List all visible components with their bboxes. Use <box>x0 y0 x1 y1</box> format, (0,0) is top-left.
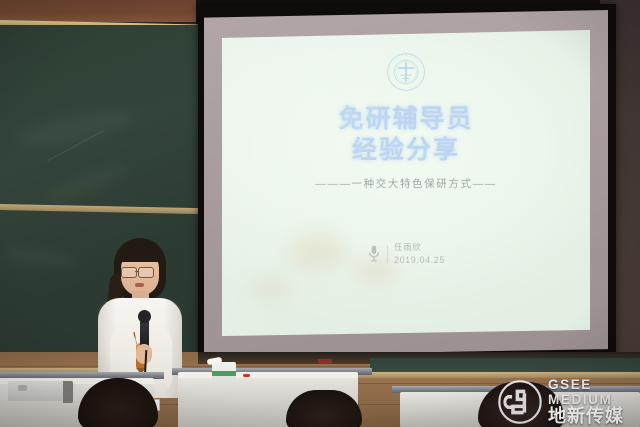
gsee-medium-logo-icon <box>498 380 542 424</box>
slide-title-line1: 免研辅导员 <box>338 105 473 133</box>
presentation-date: 2019.04.25 <box>394 255 445 266</box>
presenter-fringe <box>117 244 163 262</box>
presenter-name: 任雨欣 <box>394 242 445 253</box>
tissue-box-band <box>212 371 236 376</box>
microphone-head <box>138 310 151 323</box>
eyeglasses-right-lens <box>138 267 154 278</box>
classroom-photo: 免研辅导员 经验分享 ———一种交大特色保研方式—— 任雨欣 2019.04.2… <box>0 0 640 427</box>
watermark: GSEE MEDIUM 地新传媒 <box>498 378 638 426</box>
slide-title: 免研辅导员 经验分享 <box>222 104 590 166</box>
projection-hotspot <box>288 232 346 272</box>
projector-lens <box>18 385 27 391</box>
eyeglasses-left-lens <box>121 267 137 278</box>
presenter-mouth <box>135 283 144 287</box>
credit-text: 任雨欣 2019.04.25 <box>394 242 445 266</box>
projection-hotspot <box>251 275 291 301</box>
watermark-text: GSEE MEDIUM 地新传媒 <box>548 377 638 427</box>
red-book <box>318 359 332 364</box>
projector-unit <box>8 381 66 401</box>
chalk-smudge <box>5 245 76 269</box>
watermark-chinese: 地新传媒 <box>548 407 638 427</box>
eyeglasses-bridge <box>135 271 139 272</box>
desk-surface <box>178 372 358 378</box>
red-marker-cap <box>243 374 250 377</box>
slide-subtitle: ———一种交大特色保研方式—— <box>222 176 590 191</box>
projected-slide: 免研辅导员 经验分享 ———一种交大特色保研方式—— 任雨欣 2019.04.2… <box>222 30 590 336</box>
watermark-english: GSEE MEDIUM <box>548 377 638 407</box>
xjtu-university-emblem-icon <box>386 52 426 92</box>
chalk-smudge <box>40 159 130 209</box>
projector-unit-side <box>63 381 73 403</box>
slide-title-line2: 经验分享 <box>222 135 590 166</box>
